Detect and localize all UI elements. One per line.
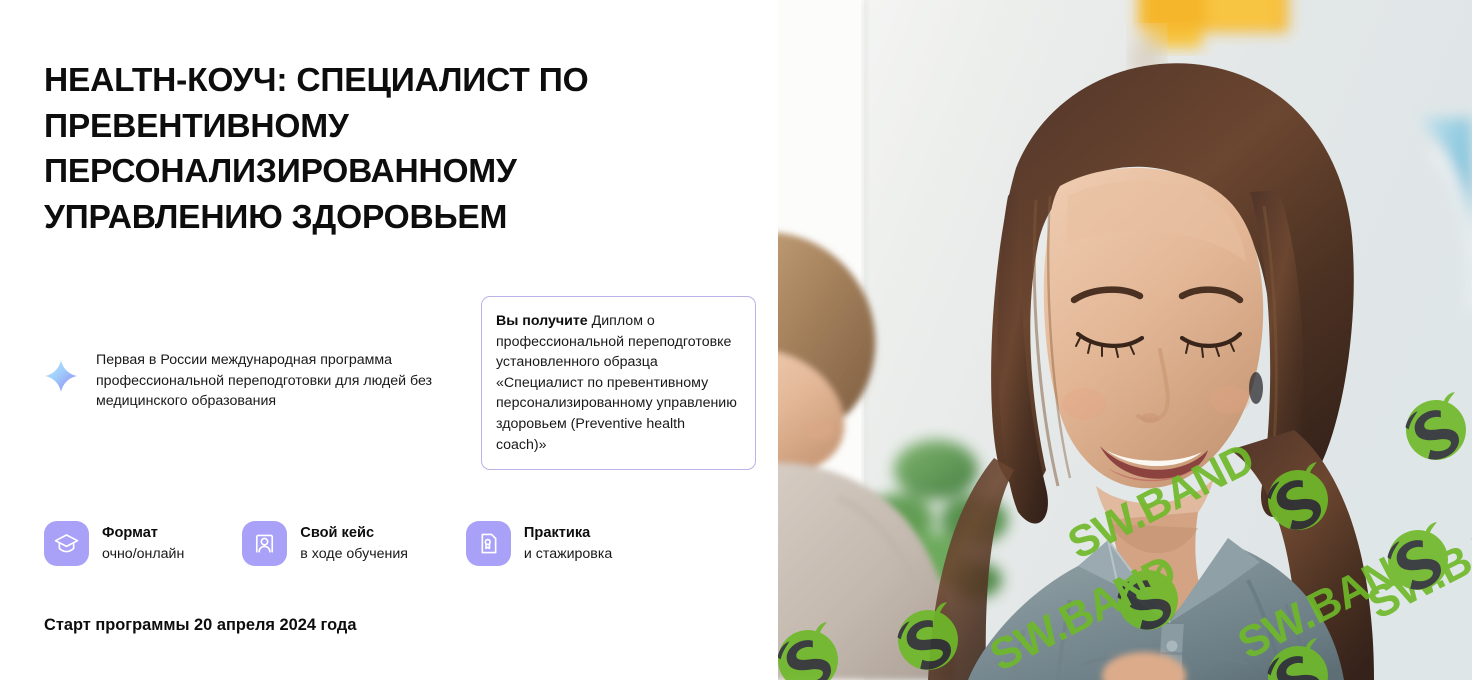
sparkle-icon [44,359,78,393]
certificate-icon [466,521,511,566]
program-highlight: Первая в России международная программа … [44,350,464,412]
left-content-panel: HEALTH-КОУЧ: СПЕЦИАЛИСТ ПО ПРЕВЕНТИВНОМУ… [0,0,778,680]
feature-subtitle: и стажировка [524,546,612,562]
hero-photo: SW.BAND [778,0,1472,680]
program-highlight-text: Первая в России международная программа … [96,350,464,412]
feature-title: Формат [102,525,158,541]
feature-item-format: Формат очно/онлайн [44,521,184,566]
landing-hero-slide: HEALTH-КОУЧ: СПЕЦИАЛИСТ ПО ПРЕВЕНТИВНОМУ… [0,0,1472,680]
feature-item-practice: Практика и стажировка [466,521,612,566]
feature-title: Свой кейс [300,525,374,541]
diploma-text: Вы получите Диплом о профессиональной пе… [496,311,739,455]
highlight-row: Первая в России международная программа … [44,296,756,466]
feature-item-case: Свой кейс в ходе обучения [242,521,408,566]
feature-list: Формат очно/онлайн Свой кейс в ходе обуч… [44,521,612,566]
feature-subtitle: очно/онлайн [102,546,184,562]
feature-copy: Практика и стажировка [524,523,612,564]
feature-copy: Свой кейс в ходе обучения [300,523,408,564]
program-start-date: Старт программы 20 апреля 2024 года [44,616,356,635]
diploma-callout: Вы получите Диплом о профессиональной пе… [481,296,756,470]
page-title: HEALTH-КОУЧ: СПЕЦИАЛИСТ ПО ПРЕВЕНТИВНОМУ… [44,58,704,240]
person-card-icon [242,521,287,566]
diploma-lead: Вы получите [496,313,588,329]
graduation-cap-icon [44,521,89,566]
diploma-body: Диплом о профессиональной переподготовке… [496,313,737,453]
feature-copy: Формат очно/онлайн [102,523,184,564]
feature-title: Практика [524,525,590,541]
feature-subtitle: в ходе обучения [300,546,408,562]
